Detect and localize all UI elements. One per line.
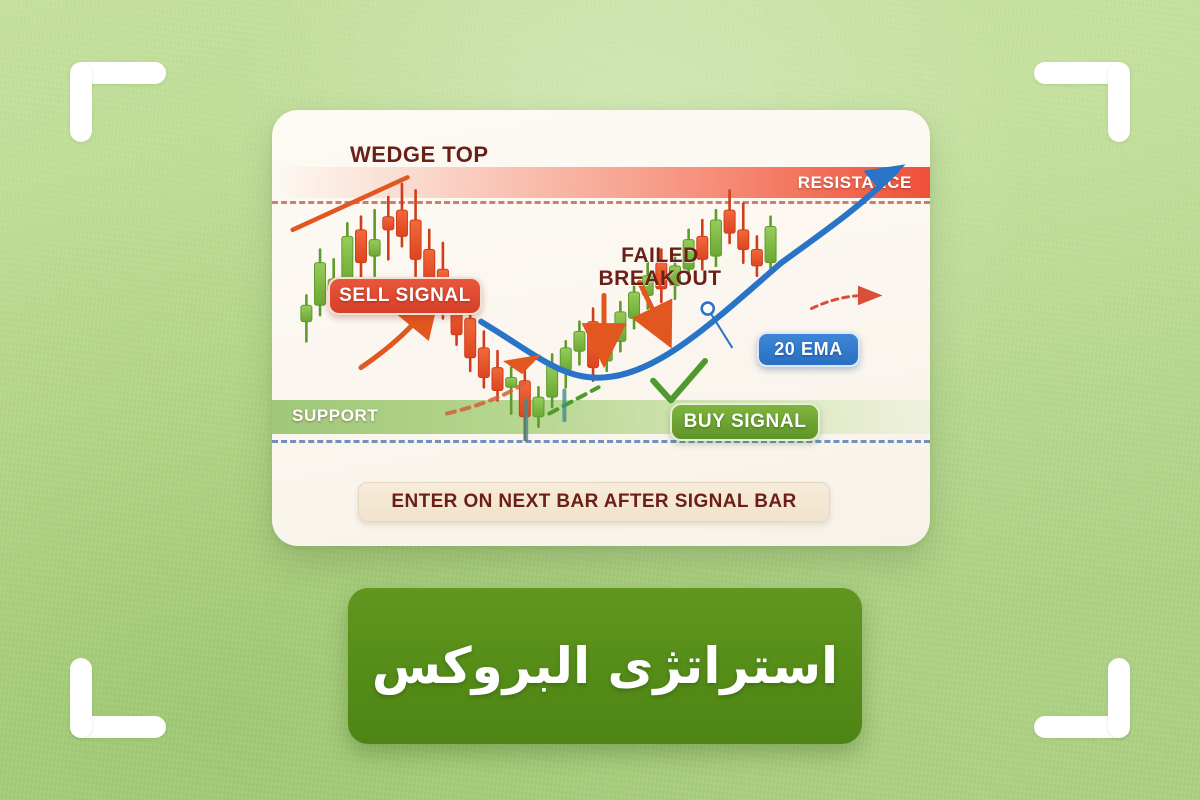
chart-card: RESISTANCE SUPPORT	[272, 110, 930, 546]
candle	[492, 368, 503, 391]
candle	[588, 322, 599, 368]
candle	[574, 332, 585, 352]
entry-rule-caption: ENTER ON NEXT BAR AFTER SIGNAL BAR	[358, 482, 830, 522]
sell-signal-arrow	[361, 315, 421, 367]
candle	[369, 240, 380, 256]
candle	[478, 348, 489, 378]
candle	[533, 397, 544, 417]
title-banner: استراتژی البروکس	[348, 588, 862, 744]
candle	[506, 377, 517, 387]
ema-badge[interactable]: 20 EMA	[757, 332, 860, 367]
candle	[751, 250, 762, 266]
candle	[396, 210, 407, 236]
reversal-arrow-head	[503, 354, 541, 374]
corner-bracket-bottom-left-icon	[70, 658, 166, 738]
candle	[465, 318, 476, 357]
sell-signal-badge[interactable]: SELL SIGNAL	[328, 277, 482, 315]
candle	[765, 227, 776, 263]
failed-breakout-line-2: BREAKOUT	[590, 267, 730, 290]
candle	[315, 263, 326, 306]
candle	[355, 230, 366, 263]
candlestick-chart	[272, 110, 930, 546]
candle	[724, 210, 735, 233]
buy-signal-badge[interactable]: BUY SIGNAL	[670, 403, 820, 441]
corner-bracket-top-left-icon	[70, 62, 166, 142]
ema-marker-dot	[702, 303, 714, 315]
uptrend-arrow-head	[863, 164, 905, 190]
candle	[301, 305, 312, 321]
failed-breakout-annotation: FAILED BREAKOUT	[590, 244, 730, 290]
candle	[615, 312, 626, 342]
candle	[410, 220, 421, 259]
check-mark-icon	[653, 361, 705, 400]
corner-bracket-top-right-icon	[1034, 62, 1130, 142]
continuation-arrow-head	[858, 286, 883, 306]
title-text: استراتژی البروکس	[372, 637, 838, 695]
candle	[601, 338, 612, 361]
infographic-canvas: RESISTANCE SUPPORT	[0, 0, 1200, 800]
corner-bracket-bottom-right-icon	[1034, 658, 1130, 738]
candle	[629, 292, 640, 318]
wedge-top-annotation: WEDGE TOP	[350, 142, 489, 168]
failed-breakout-line-1: FAILED	[590, 244, 730, 267]
candle	[383, 217, 394, 230]
candle	[738, 230, 749, 250]
